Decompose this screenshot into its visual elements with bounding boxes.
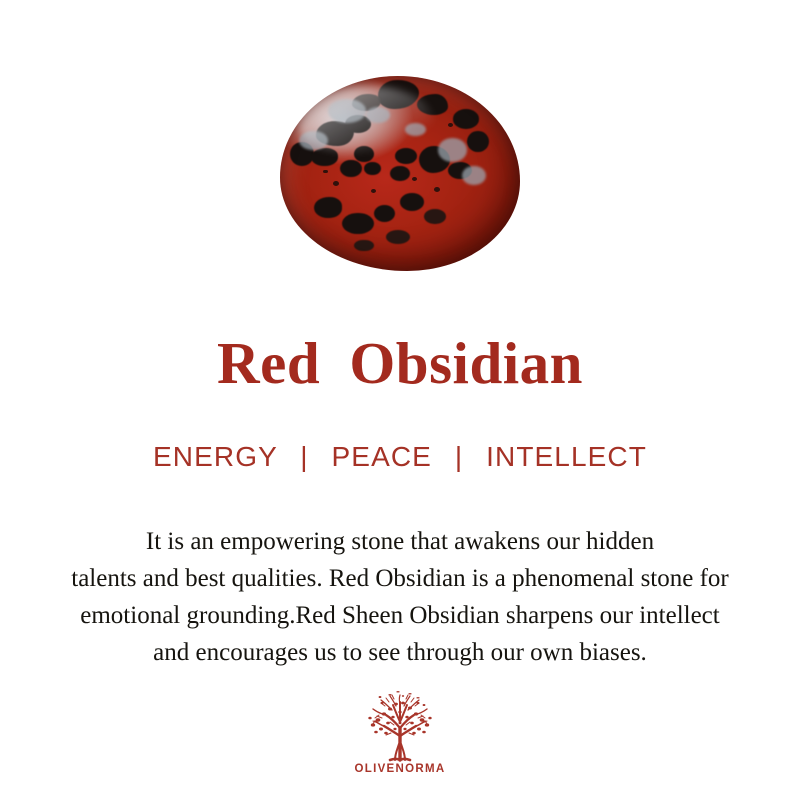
stone-grey-mottle <box>366 107 390 123</box>
stone-patch <box>364 162 381 176</box>
keyword-separator: | <box>286 442 322 471</box>
keyword-peace: PEACE <box>332 441 432 472</box>
stone-patch <box>354 146 373 162</box>
stone-patch <box>390 166 409 182</box>
stone-patch <box>395 148 417 164</box>
tree-icon <box>358 688 442 762</box>
stone-patch <box>378 80 419 109</box>
page-title: Red Obsidian <box>0 334 800 393</box>
stone-speck <box>448 123 453 127</box>
stone-grey-mottle <box>328 99 366 122</box>
description-line: and encourages us to see through our own… <box>30 634 770 671</box>
red-obsidian-stone-photo <box>280 76 520 271</box>
stone-speck <box>333 181 339 186</box>
brand-name: OLIVENORMA <box>355 763 446 775</box>
keyword-intellect: INTELLECT <box>486 441 647 472</box>
stone-grey-mottle <box>405 123 427 137</box>
stone-patch <box>374 205 396 223</box>
stone-patch <box>354 240 373 252</box>
stone-speck <box>323 170 328 174</box>
stone-patch <box>340 160 362 178</box>
stone-speck <box>434 187 440 192</box>
stone-patch <box>342 213 373 234</box>
stone-patch <box>386 230 410 244</box>
stone-patch <box>400 193 424 211</box>
keyword-energy: ENERGY <box>153 441 277 472</box>
stone-grey-mottle <box>438 138 467 161</box>
keyword-separator: | <box>441 442 477 471</box>
stone-speck <box>371 189 376 193</box>
keyword-list: ENERGY | PEACE | INTELLECT <box>0 442 800 471</box>
stone-patch <box>311 148 337 166</box>
stone-patch <box>314 197 343 218</box>
description-text: It is an empowering stone that awakens o… <box>30 523 770 671</box>
stone-speck <box>412 177 417 181</box>
stone-grey-mottle <box>462 166 486 186</box>
description-line: emotional grounding.Red Sheen Obsidian s… <box>30 597 770 634</box>
stone-body <box>280 76 520 271</box>
stone-grey-mottle <box>299 131 328 151</box>
product-info-card: Red Obsidian ENERGY | PEACE | INTELLECT … <box>0 0 800 800</box>
stone-patch <box>467 131 489 152</box>
description-line: It is an empowering stone that awakens o… <box>30 523 770 560</box>
brand-logo: OLIVENORMA <box>0 688 800 775</box>
description-line: talents and best qualities. Red Obsidian… <box>30 560 770 597</box>
stone-patch <box>417 94 448 115</box>
stone-patch <box>453 109 479 129</box>
stone-patch <box>424 209 446 225</box>
